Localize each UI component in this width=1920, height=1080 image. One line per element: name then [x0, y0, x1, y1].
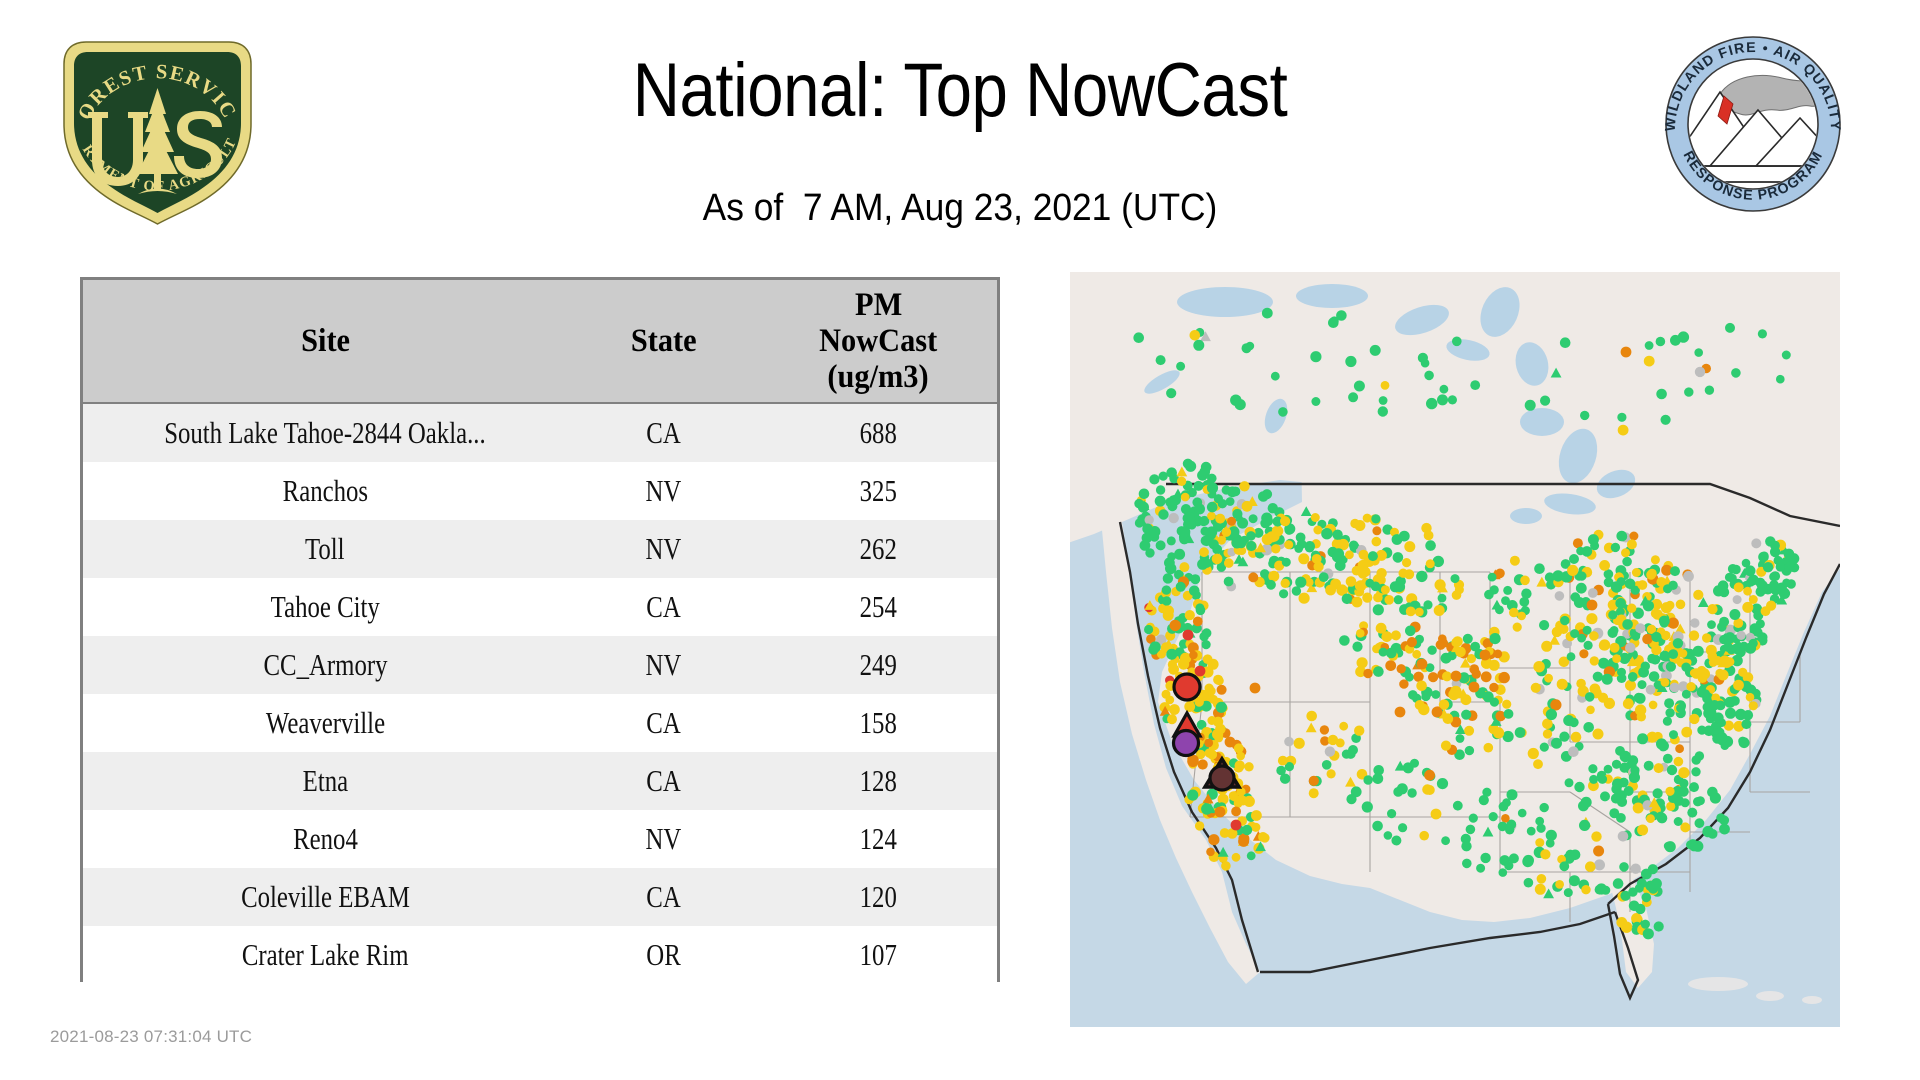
monitor-marker-temporary[interactable] — [1629, 772, 1640, 783]
monitor-marker-temporary[interactable] — [1612, 779, 1623, 790]
column-header-pm-nowcast[interactable]: PM NowCast (ug/m3) — [759, 280, 997, 403]
monitor-marker-temporary[interactable] — [1546, 709, 1557, 720]
monitor-marker-temporary[interactable] — [1642, 893, 1652, 903]
monitor-marker-temporary[interactable] — [1207, 482, 1218, 493]
monitor-marker-temporary[interactable] — [1342, 594, 1353, 605]
monitor-marker-temporary[interactable] — [1717, 732, 1728, 743]
monitor-marker-temporary[interactable] — [1371, 514, 1380, 523]
monitor-marker-temporary[interactable] — [1637, 878, 1647, 888]
monitor-marker-temporary[interactable] — [1167, 714, 1177, 724]
monitor-marker-temporary[interactable] — [1231, 538, 1242, 549]
monitor-marker-temporary[interactable] — [1399, 679, 1408, 688]
monitor-marker-temporary[interactable] — [1670, 566, 1680, 576]
monitor-marker-temporary[interactable] — [1346, 794, 1356, 804]
monitor-marker-temporary[interactable] — [1665, 787, 1674, 796]
monitor-marker-temporary[interactable] — [1373, 666, 1384, 677]
monitor-marker-temporary[interactable] — [1622, 619, 1633, 630]
monitor-marker-temporary[interactable] — [1225, 737, 1236, 748]
monitor-marker-temporary[interactable] — [1395, 707, 1406, 718]
monitor-marker-temporary[interactable] — [1654, 763, 1664, 773]
monitor-marker-temporary[interactable] — [1713, 712, 1724, 723]
monitor-marker-temporary[interactable] — [1350, 519, 1359, 528]
monitor-marker-temporary[interactable] — [1281, 579, 1290, 588]
monitor-marker-temporary[interactable] — [1728, 574, 1737, 583]
monitor-marker-temporary[interactable] — [1784, 549, 1795, 560]
column-header-state[interactable]: State — [567, 280, 759, 403]
monitor-marker-temporary[interactable] — [1352, 642, 1362, 652]
monitor-marker-temporary[interactable] — [1684, 387, 1693, 396]
table-row[interactable]: Crater Lake RimOR107 — [83, 926, 997, 984]
monitor-marker-temporary[interactable] — [1737, 631, 1746, 640]
monitor-marker-temporary[interactable] — [1140, 540, 1151, 551]
monitor-marker-temporary[interactable] — [1696, 796, 1705, 805]
monitor-marker-temporary[interactable] — [1328, 317, 1339, 328]
monitor-marker-temporary[interactable] — [1568, 746, 1579, 757]
monitor-marker-temporary[interactable] — [1469, 682, 1480, 693]
table-row[interactable]: South Lake Tahoe-2844 Oakla...CA688 — [83, 403, 997, 462]
monitor-marker-temporary[interactable] — [1525, 400, 1536, 411]
monitor-marker-temporary[interactable] — [1588, 534, 1599, 545]
monitor-marker-temporary[interactable] — [1540, 849, 1550, 859]
monitor-marker-temporary[interactable] — [1348, 392, 1358, 402]
monitor-marker-temporary[interactable] — [1453, 801, 1463, 811]
monitor-marker-temporary[interactable] — [1321, 528, 1332, 539]
monitor-marker-temporary[interactable] — [1379, 396, 1388, 405]
monitor-marker-temporary[interactable] — [1418, 704, 1429, 715]
monitor-marker-temporary[interactable] — [1691, 767, 1700, 776]
monitor-marker-temporary[interactable] — [1576, 583, 1587, 594]
monitor-marker-temporary[interactable] — [1785, 562, 1795, 572]
monitor-marker-temporary[interactable] — [1413, 672, 1423, 682]
monitor-marker-temporary[interactable] — [1149, 474, 1159, 484]
monitor-marker-temporary[interactable] — [1659, 741, 1669, 751]
monitor-marker-temporary[interactable] — [1631, 864, 1641, 874]
monitor-marker-temporary[interactable] — [1571, 732, 1582, 743]
monitor-marker-temporary[interactable] — [1176, 582, 1186, 592]
monitor-marker-temporary[interactable] — [1505, 825, 1514, 834]
monitor-marker-temporary[interactable] — [1145, 515, 1154, 524]
monitor-marker-temporary[interactable] — [1165, 563, 1176, 574]
monitor-marker-temporary[interactable] — [1451, 671, 1462, 682]
monitor-marker-temporary[interactable] — [1133, 332, 1144, 343]
monitor-marker-temporary[interactable] — [1679, 649, 1688, 658]
monitor-marker-temporary[interactable] — [1332, 530, 1342, 540]
monitor-marker-temporary[interactable] — [1162, 585, 1171, 594]
monitor-marker-temporary[interactable] — [1669, 730, 1678, 739]
monitor-marker-temporary[interactable] — [1540, 396, 1550, 406]
monitor-marker-temporary[interactable] — [1695, 751, 1704, 760]
monitor-marker-temporary[interactable] — [1563, 715, 1574, 726]
monitor-marker-temporary[interactable] — [1641, 662, 1650, 671]
monitor-marker-temporary[interactable] — [1689, 714, 1699, 724]
monitor-marker-temporary[interactable] — [1591, 831, 1601, 841]
monitor-marker-temporary[interactable] — [1345, 550, 1354, 559]
monitor-marker-temporary[interactable] — [1373, 593, 1383, 603]
monitor-marker-temporary[interactable] — [1594, 859, 1605, 870]
monitor-marker-temporary[interactable] — [1695, 367, 1705, 377]
monitor-marker-temporary[interactable] — [1593, 729, 1604, 740]
monitor-marker-temporary[interactable] — [1244, 762, 1253, 771]
monitor-marker-temporary[interactable] — [1271, 372, 1280, 381]
monitor-marker-temporary[interactable] — [1728, 564, 1738, 574]
monitor-marker-temporary[interactable] — [1588, 764, 1597, 773]
monitor-marker-temporary[interactable] — [1268, 503, 1278, 513]
monitor-marker-temporary[interactable] — [1749, 595, 1758, 604]
monitor-marker-temporary[interactable] — [1207, 512, 1216, 521]
monitor-marker-temporary[interactable] — [1204, 739, 1213, 748]
monitor-marker-temporary[interactable] — [1213, 675, 1223, 685]
monitor-marker-temporary[interactable] — [1282, 558, 1291, 567]
monitor-marker-temporary[interactable] — [1709, 700, 1719, 710]
monitor-marker-temporary[interactable] — [1239, 481, 1249, 491]
monitor-marker-temporary[interactable] — [1718, 670, 1729, 681]
monitor-marker-temporary[interactable] — [1611, 793, 1621, 803]
monitor-marker-temporary[interactable] — [1185, 518, 1195, 528]
monitor-marker-temporary[interactable] — [1368, 551, 1378, 561]
monitor-marker-temporary[interactable] — [1577, 571, 1586, 580]
monitor-marker-temporary[interactable] — [1206, 848, 1215, 857]
monitor-marker-temporary[interactable] — [1646, 814, 1655, 823]
monitor-marker-temporary[interactable] — [1298, 553, 1309, 564]
monitor-marker-temporary[interactable] — [1438, 634, 1447, 643]
monitor-marker-temporary[interactable] — [1399, 531, 1410, 542]
monitor-marker-temporary[interactable] — [1518, 809, 1527, 818]
monitor-marker-temporary[interactable] — [1394, 595, 1403, 604]
monitor-marker-temporary[interactable] — [1637, 733, 1648, 744]
monitor-marker-temporary[interactable] — [1541, 641, 1552, 652]
monitor-marker-temporary[interactable] — [1381, 631, 1392, 642]
monitor-marker-temporary[interactable] — [1637, 825, 1648, 836]
monitor-marker-temporary[interactable] — [1565, 778, 1574, 787]
monitor-marker-temporary[interactable] — [1559, 861, 1569, 871]
monitor-marker-temporary[interactable] — [1189, 586, 1200, 597]
monitor-marker-temporary[interactable] — [1513, 623, 1522, 632]
monitor-marker-temporary[interactable] — [1394, 581, 1405, 592]
monitor-marker-temporary[interactable] — [1631, 632, 1640, 641]
monitor-marker-temporary[interactable] — [1528, 748, 1539, 759]
monitor-marker-temporary[interactable] — [1490, 633, 1501, 644]
monitor-marker-temporary[interactable] — [1493, 727, 1504, 738]
monitor-marker-temporary[interactable] — [1378, 406, 1388, 416]
monitor-marker-temporary[interactable] — [1706, 645, 1717, 656]
monitor-marker-temporary[interactable] — [1664, 698, 1674, 708]
monitor-marker-temporary[interactable] — [1421, 359, 1430, 368]
monitor-marker-temporary[interactable] — [1621, 347, 1632, 358]
monitor-marker-temporary[interactable] — [1648, 864, 1658, 874]
monitor-marker-temporary[interactable] — [1306, 711, 1317, 722]
monitor-marker-temporary[interactable] — [1402, 558, 1411, 567]
monitor-marker-temporary[interactable] — [1406, 607, 1416, 617]
monitor-marker-temporary[interactable] — [1755, 578, 1765, 588]
column-header-site[interactable]: Site — [83, 280, 567, 403]
monitor-marker-temporary[interactable] — [1520, 576, 1530, 586]
monitor-marker-temporary[interactable] — [1183, 459, 1193, 469]
monitor-marker-temporary[interactable] — [1224, 558, 1234, 568]
monitor-marker-temporary[interactable] — [1222, 528, 1231, 537]
monitor-marker-temporary[interactable] — [1195, 666, 1206, 677]
monitor-marker-temporary[interactable] — [1437, 394, 1448, 405]
monitor-marker-temporary[interactable] — [1242, 825, 1252, 835]
monitor-marker-temporary[interactable] — [1670, 335, 1681, 346]
monitor-marker-temporary[interactable] — [1419, 831, 1429, 841]
monitor-marker-temporary[interactable] — [1635, 693, 1646, 704]
monitor-marker-temporary[interactable] — [1502, 700, 1511, 709]
monitor-marker-temporary[interactable] — [1724, 697, 1735, 708]
monitor-marker-temporary[interactable] — [1753, 628, 1762, 637]
monitor-marker-temporary[interactable] — [1456, 734, 1465, 743]
monitor-marker-temporary[interactable] — [1325, 746, 1335, 756]
monitor-marker-temporary[interactable] — [1405, 626, 1416, 637]
monitor-marker-temporary[interactable] — [1765, 536, 1775, 546]
monitor-marker-temporary[interactable] — [1651, 878, 1662, 889]
monitor-marker-temporary[interactable] — [1683, 571, 1694, 582]
monitor-marker-temporary[interactable] — [1452, 590, 1462, 600]
monitor-marker-temporary[interactable] — [1202, 640, 1211, 649]
monitor-marker-temporary[interactable] — [1510, 556, 1520, 566]
monitor-marker-temporary[interactable] — [1627, 604, 1636, 613]
monitor-marker-temporary[interactable] — [1668, 649, 1678, 659]
monitor-marker-temporary[interactable] — [1278, 756, 1288, 766]
monitor-marker-temporary[interactable] — [1312, 554, 1322, 564]
map-canvas[interactable] — [1070, 272, 1840, 1027]
monitor-marker-temporary[interactable] — [1517, 612, 1526, 621]
monitor-marker-temporary[interactable] — [1480, 853, 1490, 863]
monitor-marker-temporary[interactable] — [1428, 672, 1438, 682]
monitor-marker-temporary[interactable] — [1434, 605, 1445, 616]
monitor-marker-temporary[interactable] — [1608, 610, 1617, 619]
monitor-marker-temporary[interactable] — [1557, 679, 1568, 690]
monitor-marker-temporary[interactable] — [1278, 407, 1288, 417]
monitor-marker-temporary[interactable] — [1416, 571, 1427, 582]
monitor-marker-temporary[interactable] — [1190, 574, 1200, 584]
monitor-marker-temporary[interactable] — [1197, 470, 1208, 481]
monitor-marker-temporary[interactable] — [1438, 594, 1447, 603]
monitor-marker-temporary[interactable] — [1280, 516, 1290, 526]
monitor-marker-temporary[interactable] — [1263, 516, 1273, 526]
table-row[interactable]: Reno4NV124 — [83, 810, 997, 868]
monitor-marker-temporary[interactable] — [1461, 841, 1471, 851]
monitor-marker-temporary[interactable] — [1209, 695, 1218, 704]
monitor-marker-temporary[interactable] — [1564, 888, 1573, 897]
monitor-marker-temporary[interactable] — [1584, 641, 1593, 650]
monitor-marker-temporary[interactable] — [1527, 827, 1536, 836]
monitor-marker-temporary[interactable] — [1165, 696, 1174, 705]
monitor-marker-temporary[interactable] — [1540, 743, 1549, 752]
monitor-marker-temporary[interactable] — [1573, 538, 1583, 548]
monitor-marker-temporary[interactable] — [1702, 633, 1711, 642]
monitor-marker-temporary[interactable] — [1641, 920, 1650, 929]
monitor-marker-temporary[interactable] — [1381, 585, 1390, 594]
monitor-marker-temporary[interactable] — [1649, 701, 1658, 710]
monitor-marker-temporary[interactable] — [1168, 664, 1179, 675]
monitor-marker-temporary[interactable] — [1461, 710, 1471, 720]
monitor-marker-temporary[interactable] — [1354, 726, 1364, 736]
table-row[interactable]: TollNV262 — [83, 520, 997, 578]
monitor-marker-temporary[interactable] — [1618, 425, 1629, 436]
monitor-marker-temporary[interactable] — [1190, 330, 1201, 341]
monitor-marker-temporary[interactable] — [1248, 572, 1258, 582]
monitor-marker-temporary[interactable] — [1284, 540, 1293, 549]
monitor-marker-temporary[interactable] — [1292, 586, 1301, 595]
monitor-marker-temporary[interactable] — [1462, 859, 1472, 869]
monitor-marker-temporary[interactable] — [1246, 531, 1256, 541]
monitor-marker-temporary[interactable] — [1681, 798, 1690, 807]
monitor-marker-temporary[interactable] — [1560, 616, 1569, 625]
monitor-marker-temporary[interactable] — [1743, 710, 1753, 720]
monitor-marker-temporary[interactable] — [1311, 513, 1320, 522]
monitor-marker-temporary[interactable] — [1391, 630, 1401, 640]
monitor-marker-temporary[interactable] — [1463, 634, 1473, 644]
monitor-marker-temporary[interactable] — [1758, 329, 1767, 338]
monitor-marker-temporary[interactable] — [1622, 557, 1632, 567]
monitor-marker-temporary[interactable] — [1195, 821, 1204, 830]
monitor-marker-temporary[interactable] — [1531, 683, 1541, 693]
monitor-marker-temporary[interactable] — [1579, 820, 1590, 831]
monitor-marker-temporary[interactable] — [1421, 692, 1430, 701]
monitor-marker-temporary[interactable] — [1611, 543, 1620, 552]
monitor-marker-temporary[interactable] — [1647, 654, 1657, 664]
monitor-marker-temporary[interactable] — [1165, 497, 1175, 507]
monitor-marker-temporary[interactable] — [1589, 775, 1598, 784]
monitor-marker-temporary[interactable] — [1721, 657, 1732, 668]
monitor-marker-temporary[interactable] — [1705, 386, 1714, 395]
monitor-marker-temporary[interactable] — [1441, 741, 1451, 751]
monitor-marker-temporary[interactable] — [1427, 646, 1436, 655]
monitor-marker-temporary[interactable] — [1681, 663, 1690, 672]
monitor-marker-temporary[interactable] — [1644, 761, 1654, 771]
monitor-marker-temporary[interactable] — [1635, 704, 1646, 715]
monitor-marker-temporary[interactable] — [1743, 587, 1752, 596]
monitor-marker-temporary[interactable] — [1235, 760, 1245, 770]
monitor-marker-temporary[interactable] — [1332, 551, 1343, 562]
monitor-marker-temporary[interactable] — [1642, 634, 1652, 644]
monitor-marker-temporary[interactable] — [1294, 544, 1303, 553]
monitor-marker-temporary[interactable] — [1654, 921, 1664, 931]
monitor-marker-temporary[interactable] — [1534, 563, 1545, 574]
monitor-marker-temporary[interactable] — [1404, 541, 1415, 552]
monitor-marker-temporary[interactable] — [1426, 559, 1435, 568]
monitor-marker-temporary[interactable] — [1384, 831, 1393, 840]
monitor-marker-temporary[interactable] — [1189, 651, 1198, 660]
monitor-marker-temporary[interactable] — [1663, 754, 1673, 764]
table-row[interactable]: WeavervilleCA158 — [83, 694, 997, 752]
monitor-marker-temporary[interactable] — [1718, 580, 1729, 591]
monitor-marker-temporary[interactable] — [1262, 534, 1273, 545]
monitor-marker-temporary[interactable] — [1745, 643, 1756, 654]
monitor-marker-temporary[interactable] — [1656, 812, 1666, 822]
monitor-marker-temporary[interactable] — [1481, 671, 1492, 682]
monitor-marker-temporary[interactable] — [1232, 853, 1241, 862]
monitor-marker-temporary[interactable] — [1667, 765, 1677, 775]
monitor-marker-temporary[interactable] — [1372, 537, 1382, 547]
monitor-marker-temporary[interactable] — [1170, 620, 1181, 631]
monitor-marker-temporary[interactable] — [1386, 648, 1397, 659]
monitor-marker-temporary[interactable] — [1313, 526, 1322, 535]
monitor-marker-temporary[interactable] — [1733, 595, 1742, 604]
monitor-marker-temporary[interactable] — [1617, 668, 1626, 677]
monitor-marker-temporary[interactable] — [1628, 887, 1637, 896]
monitor-marker-temporary[interactable] — [1673, 638, 1683, 648]
monitor-marker-temporary[interactable] — [1416, 681, 1427, 692]
monitor-marker-temporary[interactable] — [1398, 823, 1407, 832]
monitor-marker-temporary[interactable] — [1488, 573, 1497, 582]
monitor-marker-temporary[interactable] — [1515, 727, 1526, 738]
monitor-marker-temporary[interactable] — [1627, 539, 1637, 549]
monitor-marker-temporary[interactable] — [1646, 685, 1656, 695]
monitor-marker-temporary[interactable] — [1629, 532, 1638, 541]
monitor-marker-temporary[interactable] — [1583, 722, 1594, 733]
monitor-marker-temporary[interactable] — [1339, 635, 1350, 646]
monitor-marker-temporary[interactable] — [1159, 472, 1168, 481]
monitor-marker-temporary[interactable] — [1600, 791, 1610, 801]
monitor-marker-temporary[interactable] — [1279, 589, 1288, 598]
monitor-marker-temporary[interactable] — [1519, 597, 1529, 607]
table-row[interactable]: RanchosNV325 — [83, 462, 997, 520]
monitor-marker-temporary[interactable] — [1586, 706, 1595, 715]
monitor-marker-temporary[interactable] — [1585, 692, 1595, 702]
monitor-marker-temporary[interactable] — [1675, 744, 1684, 753]
monitor-marker-temporary[interactable] — [1417, 659, 1428, 670]
monitor-marker-temporary[interactable] — [1647, 732, 1658, 743]
monitor-marker-temporary[interactable] — [1452, 337, 1462, 347]
monitor-marker-temporary[interactable] — [1295, 577, 1306, 588]
monitor-marker-temporary[interactable] — [1385, 660, 1396, 671]
monitor-marker-temporary[interactable] — [1266, 580, 1276, 590]
monitor-marker-temporary[interactable] — [1442, 671, 1452, 681]
monitor-marker-temporary[interactable] — [1199, 547, 1209, 557]
monitor-marker-temporary[interactable] — [1555, 880, 1564, 889]
highlight-marker-very-unhealthy-circle[interactable] — [1174, 731, 1199, 756]
monitor-marker-temporary[interactable] — [1185, 610, 1195, 620]
monitor-marker-temporary[interactable] — [1643, 600, 1654, 611]
monitor-marker-temporary[interactable] — [1651, 632, 1661, 642]
monitor-marker-temporary[interactable] — [1653, 788, 1663, 798]
monitor-marker-temporary[interactable] — [1540, 803, 1549, 812]
monitor-marker-temporary[interactable] — [1616, 917, 1627, 928]
monitor-marker-temporary[interactable] — [1231, 807, 1241, 817]
monitor-marker-temporary[interactable] — [1437, 778, 1448, 789]
monitor-marker-temporary[interactable] — [1408, 690, 1418, 700]
monitor-marker-temporary[interactable] — [1195, 603, 1204, 612]
monitor-marker-temporary[interactable] — [1372, 821, 1383, 832]
monitor-marker-temporary[interactable] — [1271, 544, 1280, 553]
monitor-marker-temporary[interactable] — [1599, 639, 1610, 650]
monitor-marker-temporary[interactable] — [1656, 337, 1666, 347]
monitor-marker-temporary[interactable] — [1535, 817, 1544, 826]
monitor-marker-temporary[interactable] — [1581, 885, 1590, 894]
monitor-marker-temporary[interactable] — [1426, 398, 1437, 409]
monitor-marker-temporary[interactable] — [1535, 884, 1546, 895]
monitor-marker-temporary[interactable] — [1482, 788, 1491, 797]
monitor-marker-temporary[interactable] — [1638, 680, 1647, 689]
monitor-marker-temporary[interactable] — [1205, 748, 1214, 757]
monitor-marker-temporary[interactable] — [1593, 846, 1604, 857]
monitor-marker-temporary[interactable] — [1719, 824, 1730, 835]
monitor-marker-temporary[interactable] — [1242, 343, 1252, 353]
monitor-marker-temporary[interactable] — [1356, 629, 1365, 638]
monitor-marker-temporary[interactable] — [1716, 813, 1725, 822]
monitor-marker-temporary[interactable] — [1238, 796, 1248, 806]
monitor-marker-temporary[interactable] — [1545, 572, 1555, 582]
monitor-marker-temporary[interactable] — [1701, 689, 1710, 698]
monitor-marker-temporary[interactable] — [1625, 680, 1636, 691]
monitor-marker-temporary[interactable] — [1690, 842, 1699, 851]
monitor-marker-temporary[interactable] — [1305, 541, 1316, 552]
monitor-marker-temporary[interactable] — [1551, 738, 1562, 749]
monitor-marker-temporary[interactable] — [1469, 814, 1478, 823]
monitor-marker-temporary[interactable] — [1348, 745, 1358, 755]
monitor-marker-temporary[interactable] — [1363, 775, 1372, 784]
